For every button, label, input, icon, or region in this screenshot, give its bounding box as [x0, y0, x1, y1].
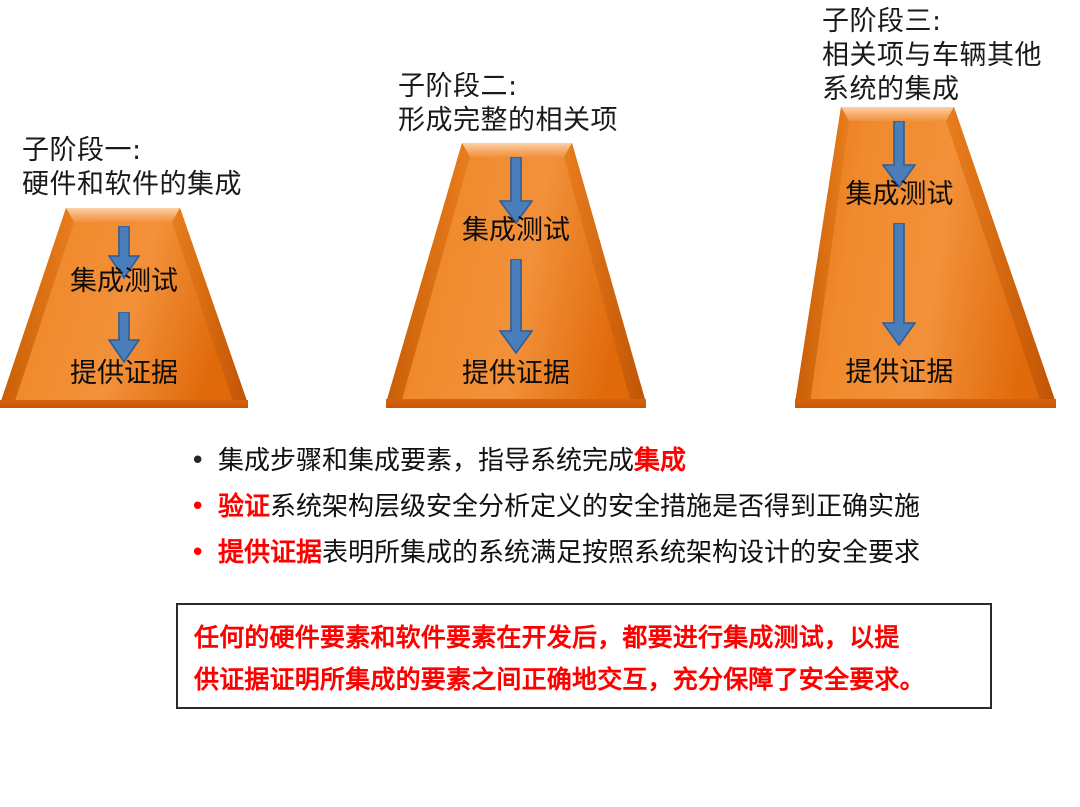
bullet-marker-icon: • [186, 448, 218, 474]
stage-two-arrow-bottom [499, 259, 533, 359]
stage-two-label-bottom: 提供证据 [386, 358, 646, 390]
stage-three-shape-wrap: 集成测试 提供证据 [795, 107, 1056, 408]
list-item: • 提供证据表明所集成的系统满足按照系统架构设计的安全要求 [186, 538, 1066, 584]
bullet-marker-icon: • [186, 540, 218, 566]
summary-callout-box: 任何的硬件要素和软件要素在开发后，都要进行集成测试，以提 供证据证明所集成的要素… [176, 603, 992, 709]
bullet-2-plain-after: 系统架构层级安全分析定义的安全措施是否得到正确实施 [270, 492, 920, 522]
bullet-text-3: 提供证据表明所集成的系统满足按照系统架构设计的安全要求 [218, 538, 920, 568]
stage-one-shape-wrap: 集成测试 提供证据 [0, 208, 248, 408]
bullet-text-1: 集成步骤和集成要素，指导系统完成集成 [218, 446, 686, 476]
bullet-list: • 集成步骤和集成要素，指导系统完成集成 • 验证系统架构层级安全分析定义的安全… [186, 446, 1066, 584]
bullet-text-2: 验证系统架构层级安全分析定义的安全措施是否得到正确实施 [218, 492, 920, 522]
stage-one-label-bottom: 提供证据 [0, 358, 248, 390]
list-item: • 集成步骤和集成要素，指导系统完成集成 [186, 446, 1066, 492]
stage-three-label-top: 集成测试 [795, 179, 1004, 211]
bullet-1-highlight: 集成 [634, 446, 686, 476]
bullet-1-plain-before: 集成步骤和集成要素，指导系统完成 [218, 446, 634, 476]
stage-two-label-top: 集成测试 [386, 215, 646, 247]
stage-one-header: 子阶段一: 硬件和软件的集成 [22, 134, 302, 202]
stage-three-arrow-bottom [882, 223, 916, 351]
stage-three-label-bottom: 提供证据 [795, 357, 1004, 389]
slide-canvas: 子阶段一: 硬件和软件的集成 [0, 0, 1080, 807]
bullet-3-plain-after: 表明所集成的系统满足按照系统架构设计的安全要求 [322, 538, 920, 568]
bullet-marker-icon: • [186, 494, 218, 520]
callout-line-2: 供证据证明所集成的要素之间正确地交互，充分保障了安全要求。 [194, 659, 974, 701]
stage-two-header: 子阶段二: 形成完整的相关项 [398, 70, 698, 138]
bullet-3-highlight: 提供证据 [218, 538, 322, 568]
bullet-2-highlight: 验证 [218, 492, 270, 522]
stage-three-header: 子阶段三: 相关项与车辆其他 系统的集成 [822, 5, 1080, 107]
stage-one-label-top: 集成测试 [0, 266, 248, 298]
stage-two-shape-wrap: 集成测试 提供证据 [386, 143, 646, 408]
list-item: • 验证系统架构层级安全分析定义的安全措施是否得到正确实施 [186, 492, 1066, 538]
callout-line-1: 任何的硬件要素和软件要素在开发后，都要进行集成测试，以提 [194, 617, 974, 659]
